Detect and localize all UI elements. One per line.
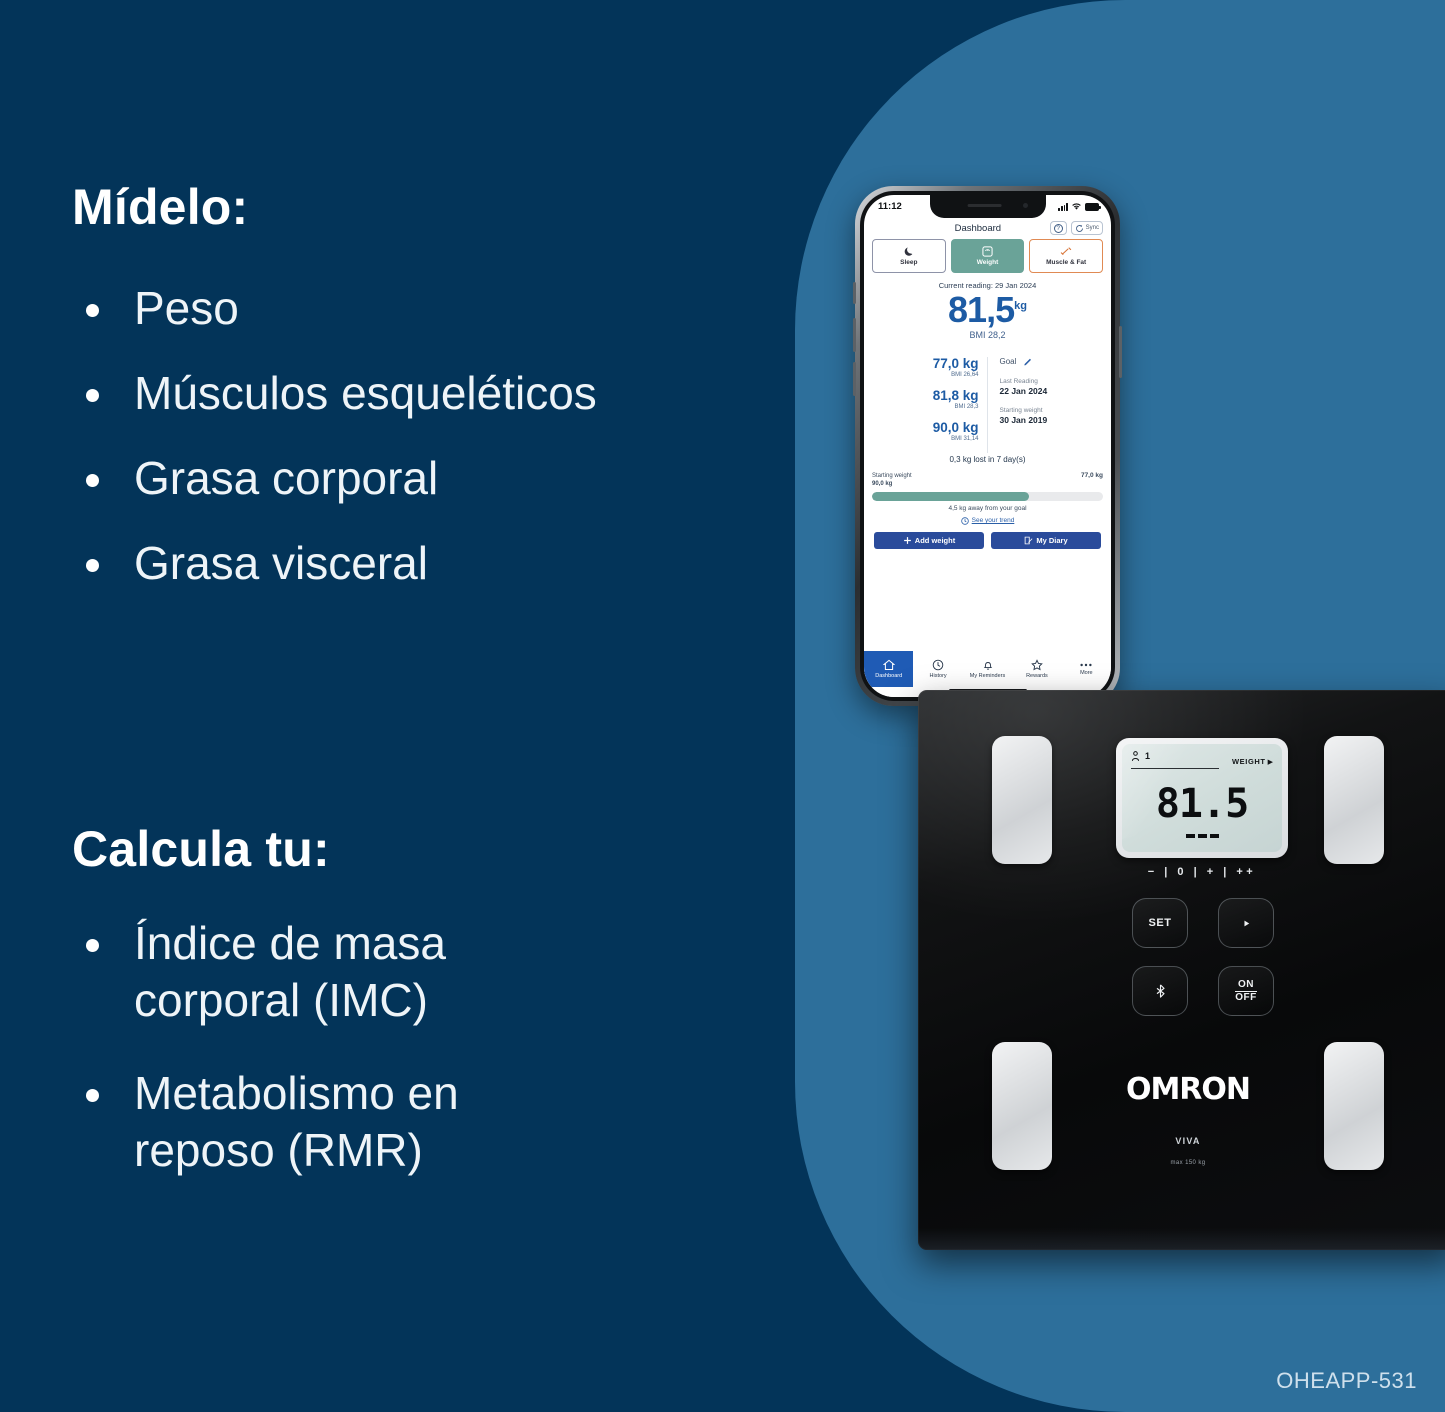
- goal-weight-bmi: BMI 26,64: [876, 372, 979, 378]
- bell-icon: [982, 659, 994, 671]
- lcd-dashes: [1122, 825, 1282, 843]
- list-item-label: Grasa visceral: [134, 537, 428, 589]
- star-icon: [1031, 659, 1043, 671]
- progress-labels: Starting weight 90,0 kg 77,0 kg: [872, 472, 1103, 488]
- current-weight-value: 81,5kg: [864, 291, 1111, 329]
- clock-icon: [961, 517, 969, 525]
- phone-volume-down: [853, 362, 856, 396]
- progress-start-value: 90,0 kg: [872, 480, 912, 488]
- tab-muscle-fat[interactable]: Muscle & Fat: [1029, 239, 1103, 273]
- bmi-scale-ticks: − | 0 | + | ++: [1116, 866, 1288, 878]
- phone-mockup: 11:12 Dashboard: [855, 186, 1120, 706]
- ellipsis-icon: [1079, 662, 1093, 668]
- onoff-label: ONOFF: [1235, 979, 1257, 1003]
- progress-start-label: Starting weight: [872, 473, 912, 479]
- nav-item-history[interactable]: History: [913, 651, 962, 687]
- scale-icon: [982, 246, 993, 257]
- electrode-pad-top-right: [1324, 736, 1384, 864]
- keypad-row: SET: [1132, 898, 1274, 948]
- tab-sleep[interactable]: Sleep: [872, 239, 946, 273]
- see-trend-row[interactable]: See your trend: [872, 517, 1103, 525]
- nav-label: Rewards: [1026, 673, 1048, 679]
- list-item-label: Índice de masa corporal (IMC): [134, 917, 446, 1026]
- bullet-dot-icon: [86, 1089, 99, 1102]
- status-icons: [1058, 202, 1099, 211]
- list-item-label: Metabolismo en reposo (RMR): [134, 1067, 459, 1176]
- starting-weight-row: Starting weight 30 Jan 2019: [1000, 407, 1100, 425]
- nav-item-rewards[interactable]: Rewards: [1012, 651, 1061, 687]
- lcd-mode-label: WEIGHT: [1232, 757, 1266, 766]
- phone-power-button: [1119, 326, 1122, 378]
- weight-unit: kg: [1014, 300, 1027, 312]
- scale-keypad: SET ONOFF: [1132, 898, 1274, 1034]
- table-row: 90,0 kg BMI 31,14: [876, 421, 979, 442]
- bullet-dot-icon: [86, 389, 99, 402]
- bullet-dot-icon: [86, 939, 99, 952]
- battery-icon: [1085, 203, 1099, 211]
- calculate-list: Índice de masa corporal (IMC) Metabolism…: [72, 915, 592, 1215]
- heading-calcula: Calcula tu:: [72, 820, 330, 878]
- nav-label: My Reminders: [970, 673, 1005, 679]
- list-item: Metabolismo en reposo (RMR): [72, 1065, 592, 1179]
- omron-scale: 1 WEIGHT▶ 81.5 − | 0 | + | ++ SET: [918, 690, 1445, 1250]
- home-icon: [883, 659, 895, 671]
- starting-weight-date: 30 Jan 2019: [1000, 415, 1100, 425]
- scale-lcd: 1 WEIGHT▶ 81.5: [1122, 744, 1282, 852]
- lcd-mode: WEIGHT▶: [1232, 751, 1273, 769]
- last-reading-value: 81,8 kg: [876, 389, 979, 403]
- list-item-label: Músculos esqueléticos: [134, 367, 597, 419]
- goal-row[interactable]: Goal: [1000, 357, 1100, 367]
- current-bmi: BMI 28,2: [864, 330, 1111, 340]
- progress-start: Starting weight 90,0 kg: [872, 472, 912, 488]
- status-bar: 11:12: [864, 195, 1111, 218]
- page-title: Dashboard: [872, 223, 1050, 234]
- progress-bar: [872, 492, 1103, 501]
- phone-screen: 11:12 Dashboard: [864, 195, 1111, 697]
- moon-icon: [903, 246, 914, 257]
- model-name: VIVA: [918, 1136, 1445, 1146]
- bluetooth-icon: [1155, 984, 1166, 998]
- header-buttons: ? Sync: [1050, 221, 1103, 235]
- bullet-dot-icon: [86, 304, 99, 317]
- play-arrow-icon: [1241, 918, 1252, 929]
- table-row: 81,8 kg BMI 28,3: [876, 389, 979, 410]
- list-item: Índice de masa corporal (IMC): [72, 915, 592, 1029]
- bullet-dot-icon: [86, 559, 99, 572]
- list-item-label: Peso: [134, 282, 239, 334]
- last-reading-label: Last Reading: [1000, 378, 1100, 385]
- tab-weight[interactable]: Weight: [951, 239, 1025, 273]
- lcd-top-row: 1 WEIGHT▶: [1131, 751, 1273, 769]
- weight-lost-summary: 0,3 kg lost in 7 day(s): [864, 455, 1111, 464]
- sync-button[interactable]: Sync: [1071, 221, 1103, 235]
- progress-note: 4,5 kg away from your goal: [872, 505, 1103, 512]
- plus-icon: [903, 536, 912, 545]
- status-time: 11:12: [878, 201, 902, 212]
- refresh-icon: [1075, 224, 1084, 233]
- tab-label: Muscle & Fat: [1046, 259, 1086, 266]
- lcd-weight-value: 81.5: [1122, 784, 1282, 824]
- starting-weight-label: Starting weight: [1000, 407, 1100, 414]
- list-item-label: Grasa corporal: [134, 452, 438, 504]
- weight-number: 81,5: [948, 289, 1014, 330]
- scale-display-frame: 1 WEIGHT▶ 81.5: [1116, 738, 1288, 858]
- next-button[interactable]: [1218, 898, 1274, 948]
- question-mark-icon: ?: [1054, 224, 1063, 233]
- nav-label: More: [1080, 670, 1093, 676]
- set-button[interactable]: SET: [1132, 898, 1188, 948]
- measure-list: Peso Músculos esqueléticos Grasa corpora…: [72, 280, 772, 620]
- product-code: OHEAPP-531: [1276, 1368, 1417, 1394]
- nav-item-dashboard[interactable]: Dashboard: [864, 651, 913, 687]
- help-button[interactable]: ?: [1050, 221, 1067, 235]
- add-weight-button[interactable]: Add weight: [874, 532, 984, 549]
- dumbbell-icon: [1060, 246, 1072, 257]
- bullet-dot-icon: [86, 474, 99, 487]
- stats-weights-column: 77,0 kg BMI 26,64 81,8 kg BMI 28,3 90,0 …: [876, 357, 988, 454]
- metric-tabs: Sleep Weight: [864, 237, 1111, 273]
- lcd-pointer-icon: ▶: [1268, 759, 1273, 766]
- progress-goal-value: 77,0 kg: [1081, 472, 1103, 479]
- tab-label: Sleep: [900, 259, 917, 266]
- my-diary-label: My Diary: [1036, 536, 1067, 545]
- wifi-icon: [1071, 202, 1082, 211]
- phone-volume-up: [853, 318, 856, 352]
- stats-grid: 77,0 kg BMI 26,64 81,8 kg BMI 28,3 90,0 …: [864, 357, 1111, 454]
- progress-bar-fill: [872, 492, 1029, 501]
- keypad-row: ONOFF: [1132, 966, 1274, 1016]
- goal-label: Goal: [1000, 357, 1017, 366]
- app-header: Dashboard ? Sync: [864, 218, 1111, 237]
- cellular-signal-icon: [1058, 203, 1068, 211]
- brand-logo: OMRON: [918, 1072, 1445, 1107]
- phone-bezel: 11:12 Dashboard: [860, 191, 1115, 701]
- list-item: Grasa visceral: [72, 535, 772, 592]
- list-item: Grasa corporal: [72, 450, 772, 507]
- nav-label: Dashboard: [875, 673, 902, 679]
- nav-item-more[interactable]: More: [1062, 651, 1111, 687]
- action-buttons: Add weight My Diary: [864, 532, 1111, 549]
- starting-weight-bmi: BMI 31,14: [876, 436, 979, 442]
- tab-label: Weight: [977, 259, 999, 266]
- last-reading-date: 22 Jan 2024: [1000, 386, 1100, 396]
- my-diary-button[interactable]: My Diary: [991, 532, 1101, 549]
- lcd-underline: [1131, 768, 1219, 769]
- lcd-user-indicator: 1: [1131, 751, 1150, 762]
- see-trend-link[interactable]: See your trend: [972, 517, 1015, 524]
- list-item: Músculos esqueléticos: [72, 365, 772, 422]
- electrode-pad-top-left: [992, 736, 1052, 864]
- last-reading-row: Last Reading 22 Jan 2024: [1000, 378, 1100, 396]
- lcd-user-number: 1: [1145, 751, 1150, 761]
- clock-icon: [932, 659, 944, 671]
- stats-labels-column: Goal Last Reading 22 Jan 2024 Starting w…: [988, 357, 1100, 454]
- edit-pencil-icon[interactable]: [1023, 357, 1033, 367]
- diary-icon: [1024, 536, 1033, 545]
- set-label: SET: [1149, 917, 1172, 929]
- list-item: Peso: [72, 280, 772, 337]
- person-icon: [1131, 751, 1140, 762]
- nav-label: History: [930, 673, 947, 679]
- phone-mute-switch: [853, 282, 856, 304]
- goal-progress: Starting weight 90,0 kg 77,0 kg 4,5 kg a…: [864, 472, 1111, 524]
- nav-item-my-reminders[interactable]: My Reminders: [963, 651, 1012, 687]
- starting-weight-value: 90,0 kg: [876, 421, 979, 435]
- sync-label: Sync: [1086, 225, 1099, 231]
- bluetooth-button[interactable]: [1132, 966, 1188, 1016]
- table-row: 77,0 kg BMI 26,64: [876, 357, 979, 378]
- last-reading-bmi: BMI 28,3: [876, 404, 979, 410]
- goal-weight-value: 77,0 kg: [876, 357, 979, 371]
- power-button[interactable]: ONOFF: [1218, 966, 1274, 1016]
- heading-medir: Mídelo:: [72, 178, 248, 236]
- poster-canvas: Mídelo: Peso Músculos esqueléticos Grasa…: [0, 0, 1445, 1412]
- add-weight-label: Add weight: [915, 536, 955, 545]
- max-capacity: max 150 kg: [918, 1160, 1445, 1166]
